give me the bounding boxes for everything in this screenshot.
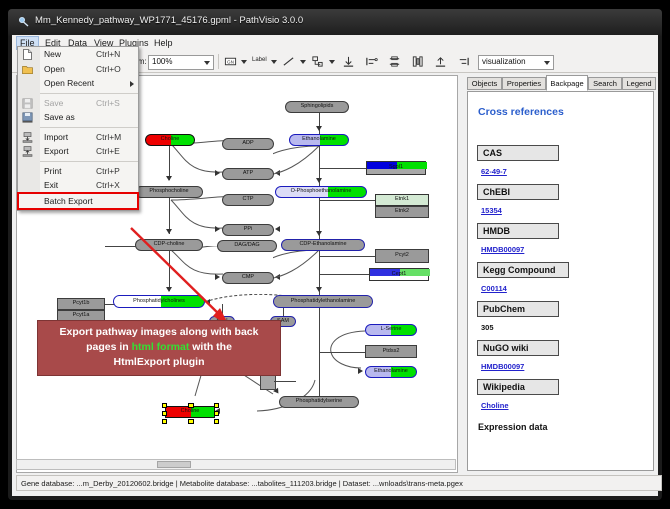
new-document-icon (22, 49, 33, 60)
selection-handle[interactable] (214, 411, 220, 417)
menu-item-save: Save Ctrl+S (18, 96, 138, 111)
file-menu-popup[interactable]: New Ctrl+N Open Ctrl+O Open Recent (17, 46, 139, 211)
menu-item-accel: Ctrl+E (96, 146, 120, 156)
menu-item-label: New (44, 49, 61, 59)
menu-item-open-recent[interactable]: Open Recent (18, 76, 138, 91)
node-label: Ethanolamine (302, 137, 336, 143)
label-dropdown-icon[interactable] (271, 60, 277, 64)
node-l-serine[interactable]: L-Serine (365, 324, 417, 336)
selection-handle[interactable] (162, 419, 168, 425)
gene-label: Pcyt1b (73, 301, 90, 307)
menu-item-open[interactable]: Open Ctrl+O (18, 62, 138, 77)
node-label: Phosphatidylethanolamine (291, 299, 356, 305)
arrowhead-down (316, 126, 322, 131)
menu-item-label: Import (44, 132, 68, 142)
annotation-line2-a: pages in (86, 341, 132, 353)
node-label: Phosphocholine (149, 189, 188, 195)
edge-ptdss2 (319, 352, 365, 353)
tab-objects[interactable]: Objects (467, 77, 502, 90)
edge-etnk (319, 200, 375, 201)
selection-handle[interactable] (188, 403, 194, 409)
node-label: L-Serine (381, 327, 402, 333)
gene-label: Pcyt2 (395, 253, 409, 259)
menu-item-import[interactable]: Import Ctrl+M (18, 130, 138, 145)
import-icon (22, 132, 33, 143)
window-title: Mm_Kennedy_pathway_WP1771_45176.gpml - P… (35, 15, 303, 26)
node-phosphatidylethanolamine[interactable]: Phosphatidylethanolamine (273, 295, 373, 308)
anchor-box (260, 374, 276, 390)
annotation-html-format: html format (132, 341, 190, 353)
node-label: Choline (161, 137, 180, 143)
menu-separator (40, 127, 138, 128)
menu-item-label: Open Recent (44, 78, 94, 88)
tab-search[interactable]: Search (588, 77, 622, 90)
annotation-line-3: HtmlExport plugin (44, 355, 274, 370)
gene-label: Sgpl1 (389, 165, 403, 171)
gene-sgpl1[interactable]: Sgpl1 (366, 161, 426, 175)
cross-references-title: Cross references (478, 106, 564, 118)
edge-anchor (274, 381, 296, 382)
gene-etnk1[interactable]: Etnk1 (375, 194, 429, 206)
menu-item-export[interactable]: Export Ctrl+E (18, 144, 138, 159)
zoom-value: 100% (152, 57, 172, 66)
node-choline-top[interactable]: Choline (145, 134, 195, 146)
node-label: ADP (242, 141, 253, 147)
node-label: CDP-Ethanolamine (299, 242, 346, 248)
menu-separator (40, 161, 138, 162)
menu-item-accel: Ctrl+N (96, 49, 120, 59)
save-disk-icon (22, 98, 33, 109)
annotation-line-2: pages in html format with the (44, 340, 274, 355)
node-label: Sphingolipids (301, 104, 334, 110)
annotation-line2-b: with the (189, 341, 232, 353)
save-as-icon (22, 112, 33, 123)
db-label-pubchem: PubChem (477, 301, 559, 317)
edge-cept1 (319, 274, 369, 275)
selection-handle[interactable] (214, 403, 220, 409)
node-label: O-Phosphoethanolamine (291, 189, 352, 195)
menu-item-batch-export[interactable]: Batch Export (19, 194, 137, 209)
node-ethanolamine-2[interactable]: Ethanolamine (365, 366, 417, 378)
annotation-callout: Export pathway images along with back pa… (37, 320, 281, 376)
pathvisio-app-icon (18, 16, 30, 28)
menu-item-label: Batch Export (44, 196, 93, 206)
menu-help[interactable]: Help (150, 37, 177, 49)
menu-item-label: Save (44, 98, 63, 108)
zoom-combo[interactable]: 100% (148, 55, 214, 70)
title-bar: Mm_Kennedy_pathway_WP1771_45176.gpml - P… (8, 9, 662, 36)
menu-separator (40, 93, 138, 94)
window-frame: Mm_Kennedy_pathway_WP1771_45176.gpml - P… (8, 9, 662, 500)
menu-item-accel: Ctrl+M (96, 132, 121, 142)
menu-item-exit[interactable]: Exit Ctrl+X (18, 178, 138, 193)
selection-handle[interactable] (214, 419, 220, 425)
node-label: Phosphatidylserine (296, 399, 342, 405)
side-panel-tabs: Objects Properties Backpage Search Legen… (467, 75, 654, 91)
db-label-nugo: NuGO wiki (477, 340, 559, 356)
db-label-hmdb: HMDB (477, 223, 559, 239)
db-label-cas: CAS (477, 145, 559, 161)
canvas-hscroll-thumb[interactable] (157, 461, 191, 468)
interaction-icon[interactable] (311, 55, 324, 68)
interaction-dropdown-icon[interactable] (329, 60, 335, 64)
db-value-pubchem: 305 (481, 323, 494, 332)
gene-label: Ptdss2 (383, 349, 400, 355)
db-label-chebi: ChEBI (477, 184, 559, 200)
chevron-down-icon (204, 61, 210, 65)
align-top-icon[interactable] (342, 55, 355, 68)
gene-cept1[interactable]: Cept1 (369, 268, 429, 281)
same-width-icon[interactable] (411, 55, 424, 68)
app-window-root: Mm_Kennedy_pathway_WP1771_45176.gpml - P… (0, 0, 670, 509)
gene-label: Cept1 (392, 272, 407, 278)
node-ctp[interactable]: CTP (222, 194, 274, 206)
arrowhead-right (215, 170, 220, 176)
node-label: Ethanolamine (374, 369, 408, 375)
menu-item-accel: Ctrl+X (96, 180, 120, 190)
tab-backpage[interactable]: Backpage (546, 75, 588, 91)
side-panel: Objects Properties Backpage Search Legen… (459, 75, 654, 471)
gene-label: Etnk2 (395, 209, 409, 215)
submenu-arrow-icon (130, 81, 134, 87)
selection-handle[interactable] (162, 411, 168, 417)
align-left-icon[interactable] (365, 55, 378, 68)
align-right-icon[interactable] (457, 55, 470, 68)
db-value-nugo[interactable]: HMDB00097 (481, 362, 524, 371)
menu-item-label: Print (44, 166, 61, 176)
visualization-combo[interactable]: visualization (478, 55, 554, 70)
node-cdp-ethanolamine[interactable]: CDP-Ethanolamine (281, 239, 365, 251)
line-dropdown-icon[interactable] (300, 60, 306, 64)
menu-item-label: Save as (44, 112, 75, 122)
export-icon (22, 146, 33, 157)
menu-item-label: Export (44, 146, 69, 156)
tab-properties[interactable]: Properties (502, 77, 546, 90)
node-o-phosphoethanolamine[interactable]: O-Phosphoethanolamine (275, 186, 367, 198)
menu-item-save-as[interactable]: Save as (18, 110, 138, 125)
node-phosphatidylserine[interactable]: Phosphatidylserine (279, 396, 359, 408)
node-label: Choline (181, 409, 200, 415)
node-phosphocholine[interactable]: Phosphocholine (135, 186, 203, 198)
svg-text:GN: GN (227, 59, 234, 64)
node-label: PPi (244, 227, 253, 233)
menu-item-accel: Ctrl+S (96, 98, 120, 108)
visualization-value: visualization (482, 57, 526, 66)
menu-item-new[interactable]: New Ctrl+N (18, 47, 138, 62)
tab-legend[interactable]: Legend (622, 77, 656, 90)
annotation-line-1: Export pathway images along with back (44, 325, 274, 340)
db-value-cas[interactable]: 62-49-7 (481, 167, 507, 176)
node-adp[interactable]: ADP (222, 138, 274, 150)
backpage-content[interactable]: Cross references CAS 62-49-7 ChEBI 15354… (467, 91, 654, 471)
line-icon[interactable] (282, 55, 295, 68)
node-label: CTP (243, 197, 254, 203)
node-label: ATP (243, 171, 253, 177)
node-ethanolamine[interactable]: Ethanolamine (289, 134, 349, 146)
edge-pcyt2 (319, 256, 375, 257)
open-folder-icon (22, 64, 33, 75)
align-bottom-icon[interactable] (434, 55, 447, 68)
selection-handle[interactable] (188, 419, 194, 425)
arrowhead-left (275, 226, 280, 232)
gene-label: Etnk1 (395, 197, 409, 203)
menu-item-accel: Ctrl+O (96, 64, 121, 74)
expression-data-title: Expression data (478, 422, 548, 432)
cofactor-loop-right-1 (273, 142, 333, 186)
menu-item-label: Open (44, 64, 65, 74)
node-atp[interactable]: ATP (222, 168, 274, 180)
db-value-wikipedia[interactable]: Choline (481, 401, 509, 410)
gene-label: Pcyt1a (73, 313, 90, 319)
toolbar-separator (218, 54, 219, 69)
node-sphingolipids[interactable]: Sphingolipids (285, 101, 349, 113)
data-node-dropdown-icon[interactable] (241, 60, 247, 64)
menu-item-accel: Ctrl+P (96, 166, 120, 176)
db-value-hmdb[interactable]: HMDB00097 (481, 245, 524, 254)
gene-pcyt2[interactable]: Pcyt2 (375, 249, 429, 263)
menu-item-print[interactable]: Print Ctrl+P (18, 164, 138, 179)
gene-ptdss2[interactable]: Ptdss2 (365, 345, 417, 358)
menu-item-label: Exit (44, 180, 58, 190)
cofactor-loop-right-2 (273, 246, 333, 290)
annotation-arrow (125, 224, 245, 334)
label-tool-text[interactable]: Label (252, 57, 267, 63)
db-label-wikipedia: Wikipedia (477, 379, 559, 395)
status-text: Gene database: ...m_Derby_20120602.bridg… (21, 479, 463, 488)
arrowhead-right (358, 368, 363, 374)
selection-handle[interactable] (162, 403, 168, 409)
stack-center-x-icon[interactable] (388, 55, 401, 68)
db-value-kegg[interactable]: C00114 (481, 284, 507, 293)
gene-etnk2[interactable]: Etnk2 (375, 206, 429, 218)
chevron-down-icon (544, 61, 550, 65)
arrowhead-down (316, 231, 322, 236)
db-label-kegg: Kegg Compound (477, 262, 569, 278)
status-bar: Gene database: ...m_Derby_20120602.bridg… (16, 475, 662, 491)
gene-pcyt1b[interactable]: Pcyt1b (57, 298, 105, 310)
edge-sgpl1 (319, 168, 366, 169)
data-node-icon[interactable]: GN (224, 55, 237, 68)
db-value-chebi[interactable]: 15354 (481, 206, 502, 215)
canvas-hscrollbar[interactable] (16, 459, 456, 470)
